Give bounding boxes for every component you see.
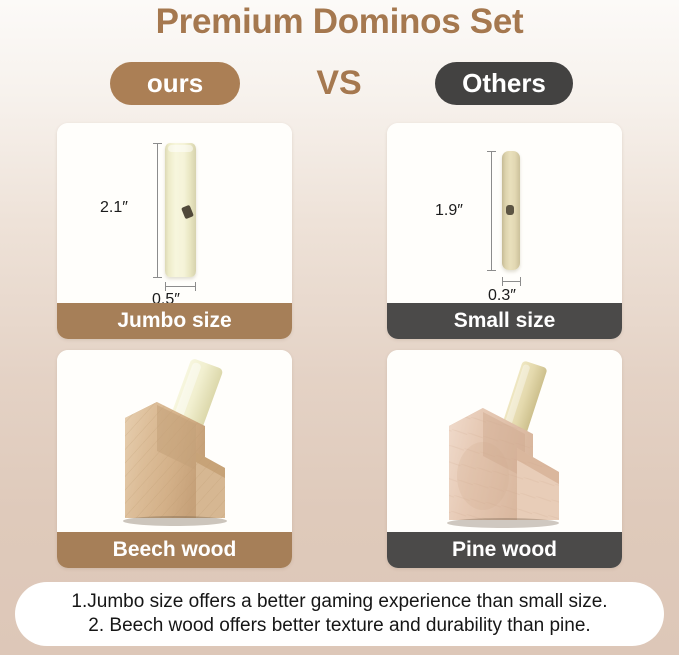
card-pine-wood: Pine wood bbox=[387, 350, 622, 568]
caption-line-2: 2. Beech wood offers better texture and … bbox=[15, 614, 664, 638]
height-dimension-label: 2.1″ bbox=[100, 199, 128, 217]
pine-wood-rack-illustration bbox=[387, 350, 622, 532]
card-jumbo-size: 2.1″ 0.5″ Jumbo size bbox=[57, 123, 292, 339]
width-dimension-line bbox=[165, 286, 196, 287]
card-label-small-size: Small size bbox=[387, 303, 622, 339]
caption-line-1: 1.Jumbo size offers a better gaming expe… bbox=[15, 590, 664, 614]
card-label-jumbo-size: Jumbo size bbox=[57, 303, 292, 339]
card-small-size-body: 1.9″ 0.3″ bbox=[387, 123, 622, 303]
comparison-infographic: Premium Dominos Set ours VS Others 2.1″ … bbox=[0, 0, 679, 655]
badge-ours: ours bbox=[110, 62, 240, 105]
vs-label: VS bbox=[289, 62, 389, 105]
card-label-pine-wood: Pine wood bbox=[387, 532, 622, 568]
width-dimension-label: 0.3″ bbox=[488, 287, 516, 303]
badge-others: Others bbox=[435, 62, 573, 105]
summary-caption: 1.Jumbo size offers a better gaming expe… bbox=[15, 582, 664, 646]
card-beech-wood-body bbox=[57, 350, 292, 532]
width-dimension-label: 0.5″ bbox=[152, 291, 180, 303]
card-label-beech-wood: Beech wood bbox=[57, 532, 292, 568]
page-title: Premium Dominos Set bbox=[0, 2, 679, 42]
card-jumbo-size-body: 2.1″ 0.5″ bbox=[57, 123, 292, 303]
versus-badge-row: ours VS Others bbox=[0, 62, 679, 108]
height-dimension-line bbox=[157, 143, 158, 278]
domino-spinner-pin-icon bbox=[506, 205, 514, 215]
height-dimension-line bbox=[491, 151, 492, 271]
beech-wood-rack-illustration bbox=[57, 350, 292, 532]
height-dimension-label: 1.9″ bbox=[435, 202, 463, 220]
card-small-size: 1.9″ 0.3″ Small size bbox=[387, 123, 622, 339]
card-beech-wood: Beech wood bbox=[57, 350, 292, 568]
width-dimension-line bbox=[502, 281, 521, 282]
card-pine-wood-body bbox=[387, 350, 622, 532]
